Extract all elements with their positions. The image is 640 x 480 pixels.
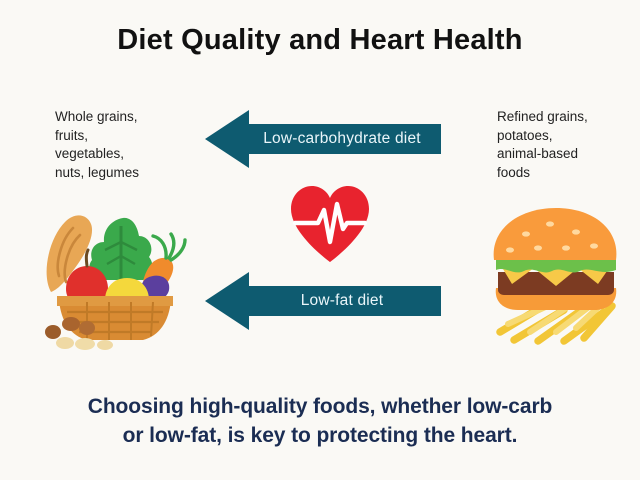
heart-with-heartbeat-icon: [287, 184, 373, 264]
infographic-canvas: Diet Quality and Heart Health Whole grai…: [0, 0, 640, 480]
arrow-low-fat-diet-label: Low-fat diet: [249, 272, 435, 330]
arrow-low-fat-diet: Low-fat diet: [205, 272, 441, 330]
page-title: Diet Quality and Heart Health: [0, 24, 640, 57]
left-foods-list: Whole grains, fruits, vegetables, nuts, …: [55, 108, 205, 182]
fruit-vegetable-basket-illustration: [35, 196, 195, 351]
bottom-caption: Choosing high-quality foods, whether low…: [30, 392, 610, 450]
arrow-low-carbohydrate-diet-label: Low-carbohydrate diet: [249, 110, 435, 168]
arrow-low-carbohydrate-diet: Low-carbohydrate diet: [205, 110, 441, 168]
cheeseburger-and-fries-illustration: [478, 200, 633, 350]
right-foods-list: Refined grains, potatoes, animal-based f…: [497, 108, 640, 182]
